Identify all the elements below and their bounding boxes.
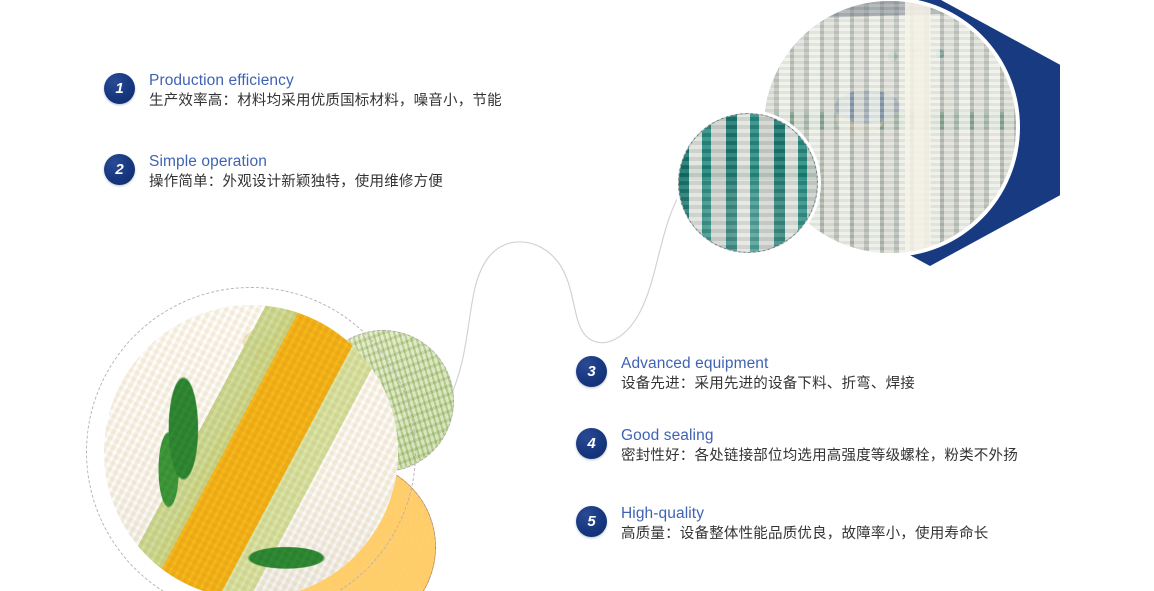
feature-badge-5: 5: [576, 506, 607, 537]
feature-description-4: 密封性好：各处链接部位均选用高强度等级螺栓，粉类不外扬: [621, 446, 1018, 467]
feature-text-2: Simple operation 操作简单：外观设计新颖独特，使用维修方便: [149, 152, 443, 193]
feature-badge-2: 2: [104, 154, 135, 185]
feature-badge-1: 1: [104, 73, 135, 104]
feature-item-5[interactable]: 5 High-quality 高质量：设备整体性能品质优良，故障率小，使用寿命长: [576, 504, 989, 545]
machine-photo-group: [800, 0, 1070, 268]
feature-description-3: 设备先进：采用先进的设备下料、折弯、焊接: [621, 374, 915, 395]
feature-heading-4: Good sealing: [621, 426, 1018, 445]
feature-description-5: 高质量：设备整体性能品质优良，故障率小，使用寿命长: [621, 524, 989, 545]
infographic-canvas: 1 Production efficiency 生产效率高：材料均采用优质国标材…: [0, 0, 1154, 591]
feature-text-3: Advanced equipment 设备先进：采用先进的设备下料、折弯、焊接: [621, 354, 915, 395]
feature-heading-5: High-quality: [621, 504, 989, 523]
feature-heading-1: Production efficiency: [149, 71, 502, 90]
fresh-corn-cobs-photo: [104, 305, 398, 591]
corn-photo-circle: [104, 305, 398, 591]
feature-item-2[interactable]: 2 Simple operation 操作简单：外观设计新颖独特，使用维修方便: [104, 152, 443, 193]
feature-item-4[interactable]: 4 Good sealing 密封性好：各处链接部位均选用高强度等级螺栓，粉类不…: [576, 426, 1018, 467]
feature-heading-3: Advanced equipment: [621, 354, 915, 373]
small-machine-photo-circle: [678, 113, 818, 253]
feature-badge-4: 4: [576, 428, 607, 459]
green-milling-machinery-photo: [678, 113, 818, 253]
feature-badge-3: 3: [576, 356, 607, 387]
feature-description-2: 操作简单：外观设计新颖独特，使用维修方便: [149, 172, 443, 193]
feature-description-1: 生产效率高：材料均采用优质国标材料，噪音小，节能: [149, 91, 502, 112]
feature-heading-2: Simple operation: [149, 152, 443, 171]
feature-item-3[interactable]: 3 Advanced equipment 设备先进：采用先进的设备下料、折弯、焊…: [576, 354, 915, 395]
feature-item-1[interactable]: 1 Production efficiency 生产效率高：材料均采用优质国标材…: [104, 71, 502, 112]
feature-text-4: Good sealing 密封性好：各处链接部位均选用高强度等级螺栓，粉类不外扬: [621, 426, 1018, 467]
feature-text-5: High-quality 高质量：设备整体性能品质优良，故障率小，使用寿命长: [621, 504, 989, 545]
feature-text-1: Production efficiency 生产效率高：材料均采用优质国标材料，…: [149, 71, 502, 112]
